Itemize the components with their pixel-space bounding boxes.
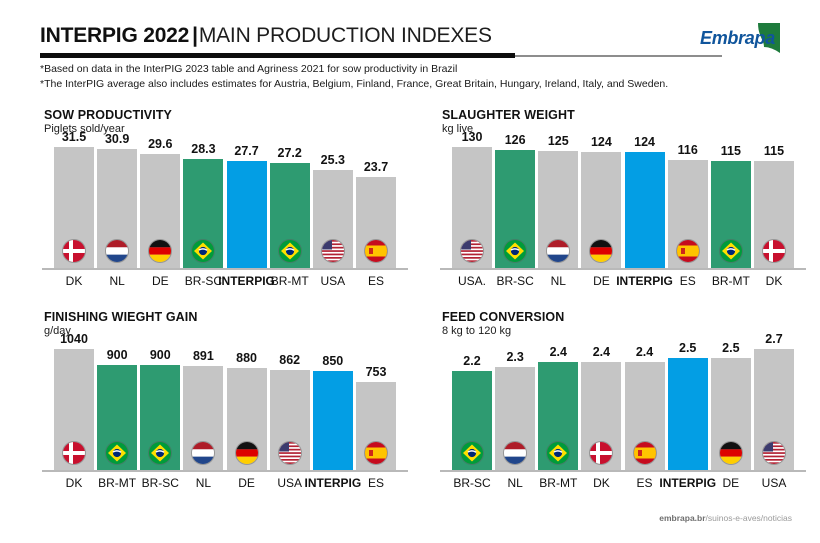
category-label-usa: USA bbox=[745, 476, 803, 490]
flag-de-icon bbox=[590, 240, 612, 262]
bar-slot[interactable]: 2.4 bbox=[581, 344, 621, 470]
flag-es-icon bbox=[365, 240, 387, 262]
bar-slot[interactable]: 29.6 bbox=[140, 142, 180, 268]
footer-site-link[interactable]: embrapa.br/suinos-e-aves/noticias bbox=[659, 513, 792, 523]
bar-slot[interactable]: 753 bbox=[356, 344, 396, 470]
bar-nl[interactable] bbox=[183, 366, 223, 470]
bar-dk[interactable] bbox=[754, 161, 794, 268]
flag-dk-icon bbox=[63, 442, 85, 464]
footer-site-path: /suinos-e-aves/noticias bbox=[706, 513, 792, 523]
bar-slot[interactable]: 126 bbox=[495, 142, 535, 268]
bar-value-label: 2.7 bbox=[746, 332, 802, 346]
chart-baseline bbox=[42, 268, 408, 270]
embrapa-logo-text: Embrapa bbox=[700, 28, 775, 49]
flag-us-icon bbox=[279, 442, 301, 464]
bar-br-sc[interactable] bbox=[183, 159, 223, 268]
bar-value-label: 753 bbox=[348, 365, 404, 379]
flag-us-icon bbox=[461, 240, 483, 262]
bar-dk[interactable] bbox=[581, 362, 621, 470]
bar-slot[interactable]: 2.5 bbox=[668, 344, 708, 470]
bar-slot[interactable]: 130 bbox=[452, 142, 492, 268]
bar-slot[interactable]: 27.7 bbox=[227, 142, 267, 268]
flag-br-icon bbox=[720, 240, 742, 262]
page-title-rest: MAIN PRODUCTION INDEXES bbox=[199, 24, 492, 47]
category-label-es: ES bbox=[347, 476, 405, 490]
bar-usa[interactable] bbox=[313, 170, 353, 268]
bar-slot[interactable]: 28.3 bbox=[183, 142, 223, 268]
bar-slot[interactable]: 900 bbox=[97, 344, 137, 470]
bar-de[interactable] bbox=[227, 368, 267, 470]
bar-slot[interactable]: 2.4 bbox=[538, 344, 578, 470]
chart-baseline bbox=[440, 268, 806, 270]
bar-br-sc[interactable] bbox=[140, 365, 180, 470]
bar-es[interactable] bbox=[668, 160, 708, 268]
chart-title: SOW PRODUCTIVITY bbox=[44, 108, 172, 122]
flag-es-icon bbox=[634, 442, 656, 464]
chart-baseline bbox=[440, 470, 806, 472]
flag-es-icon bbox=[365, 442, 387, 464]
bar-nl[interactable] bbox=[97, 149, 137, 268]
chart-slaughter-weight: SLAUGHTER WEIGHTkg live13012612512412411… bbox=[438, 108, 808, 293]
flag-dk-icon bbox=[763, 240, 785, 262]
bar-interpig[interactable] bbox=[313, 371, 353, 470]
bar-slot[interactable]: 115 bbox=[754, 142, 794, 268]
bar-nl[interactable] bbox=[538, 151, 578, 268]
chart-title: SLAUGHTER WEIGHT bbox=[442, 108, 575, 122]
bar-slot[interactable]: 2.3 bbox=[495, 344, 535, 470]
bar-es[interactable] bbox=[356, 382, 396, 470]
bar-slot[interactable]: 124 bbox=[625, 142, 665, 268]
header-rule-gray bbox=[515, 55, 722, 57]
chart-subtitle: 8 kg to 120 kg bbox=[442, 325, 511, 337]
chart-feed-conversion: FEED CONVERSION8 kg to 120 kg2.22.32.42.… bbox=[438, 310, 808, 495]
plot-area: 130126125124124116115115 bbox=[438, 142, 808, 270]
category-label-es: ES bbox=[347, 274, 405, 288]
bar-de[interactable] bbox=[711, 358, 751, 470]
bar-br-sc[interactable] bbox=[452, 371, 492, 470]
chart-finishing-weight-gain: FINISHING WIEGHT GAINg/day10409009008918… bbox=[40, 310, 410, 495]
bar-value-label: 1040 bbox=[46, 332, 102, 346]
bar-slot[interactable]: 2.5 bbox=[711, 344, 751, 470]
bar-br-sc[interactable] bbox=[495, 150, 535, 268]
bar-slot[interactable]: 23.7 bbox=[356, 142, 396, 268]
bar-slot[interactable]: 116 bbox=[668, 142, 708, 268]
flag-br-icon bbox=[192, 240, 214, 262]
flag-es-icon bbox=[677, 240, 699, 262]
bar-slot[interactable]: 27.2 bbox=[270, 142, 310, 268]
flag-nl-icon bbox=[547, 240, 569, 262]
flag-de-icon bbox=[149, 240, 171, 262]
bar-slot[interactable]: 900 bbox=[140, 344, 180, 470]
flag-nl-icon bbox=[192, 442, 214, 464]
bar-usa-[interactable] bbox=[452, 147, 492, 268]
footnote-1: *Based on data in the InterPIG 2023 tabl… bbox=[40, 62, 790, 77]
plot-area: 1040900900891880862850753 bbox=[40, 344, 410, 472]
flag-us-icon bbox=[322, 240, 344, 262]
bar-es[interactable] bbox=[625, 362, 665, 470]
bar-slot[interactable]: 862 bbox=[270, 344, 310, 470]
bar-br-mt[interactable] bbox=[711, 161, 751, 268]
bar-br-mt[interactable] bbox=[270, 163, 310, 268]
category-label-dk: DK bbox=[745, 274, 803, 288]
bar-es[interactable] bbox=[356, 177, 396, 268]
flag-br-icon bbox=[547, 442, 569, 464]
bar-br-mt[interactable] bbox=[538, 362, 578, 470]
flag-br-icon bbox=[106, 442, 128, 464]
bar-slot[interactable]: 2.7 bbox=[754, 344, 794, 470]
flag-de-icon bbox=[236, 442, 258, 464]
bar-slot[interactable]: 1040 bbox=[54, 344, 94, 470]
flag-dk-icon bbox=[63, 240, 85, 262]
flag-dk-icon bbox=[590, 442, 612, 464]
bar-slot[interactable]: 124 bbox=[581, 142, 621, 268]
bar-slot[interactable]: 125 bbox=[538, 142, 578, 268]
flag-nl-icon bbox=[106, 240, 128, 262]
bar-value-label: 23.7 bbox=[348, 160, 404, 174]
flag-br-icon bbox=[279, 240, 301, 262]
bar-usa[interactable] bbox=[270, 370, 310, 470]
bar-de[interactable] bbox=[581, 152, 621, 268]
bar-slot[interactable]: 880 bbox=[227, 344, 267, 470]
bar-de[interactable] bbox=[140, 154, 180, 268]
plot-area: 2.22.32.42.42.42.52.52.7 bbox=[438, 344, 808, 472]
bar-interpig[interactable] bbox=[625, 152, 665, 268]
page-title-strong: INTERPIG 2022 bbox=[40, 24, 189, 47]
plot-area: 31.530.929.628.327.727.225.323.7 bbox=[40, 142, 410, 270]
flag-br-icon bbox=[504, 240, 526, 262]
flag-br-icon bbox=[461, 442, 483, 464]
flag-de-icon bbox=[720, 442, 742, 464]
chart-baseline bbox=[42, 470, 408, 472]
embrapa-logo: Embrapa bbox=[700, 22, 796, 56]
bar-slot[interactable]: 2.4 bbox=[625, 344, 665, 470]
bar-slot[interactable]: 850 bbox=[313, 344, 353, 470]
bar-slot[interactable]: 31.5 bbox=[54, 142, 94, 268]
bar-interpig[interactable] bbox=[227, 161, 267, 268]
footnotes: *Based on data in the InterPIG 2023 tabl… bbox=[40, 62, 790, 92]
bar-nl[interactable] bbox=[495, 367, 535, 470]
chart-title: FEED CONVERSION bbox=[442, 310, 564, 324]
footnote-2: *The InterPIG average also includes esti… bbox=[40, 77, 790, 92]
flag-us-icon bbox=[763, 442, 785, 464]
bar-usa[interactable] bbox=[754, 349, 794, 470]
header-rule-black bbox=[40, 53, 515, 58]
flag-br-icon bbox=[149, 442, 171, 464]
footer-site-domain: embrapa.br bbox=[659, 513, 705, 523]
bar-slot[interactable]: 115 bbox=[711, 142, 751, 268]
bar-slot[interactable]: 891 bbox=[183, 344, 223, 470]
bar-slot[interactable]: 2.2 bbox=[452, 344, 492, 470]
bar-slot[interactable]: 25.3 bbox=[313, 142, 353, 268]
bar-interpig[interactable] bbox=[668, 358, 708, 470]
bar-slot[interactable]: 30.9 bbox=[97, 142, 137, 268]
page-title-separator: | bbox=[189, 24, 199, 47]
bar-br-mt[interactable] bbox=[97, 365, 137, 470]
chart-title: FINISHING WIEGHT GAIN bbox=[44, 310, 198, 324]
page-title: INTERPIG 2022|MAIN PRODUCTION INDEXES bbox=[40, 24, 492, 48]
chart-sow-productivity: SOW PRODUCTIVITYPiglets sold/year31.530.… bbox=[40, 108, 410, 293]
bar-value-label: 115 bbox=[746, 144, 802, 158]
bar-dk[interactable] bbox=[54, 349, 94, 470]
flag-nl-icon bbox=[504, 442, 526, 464]
bar-dk[interactable] bbox=[54, 147, 94, 268]
